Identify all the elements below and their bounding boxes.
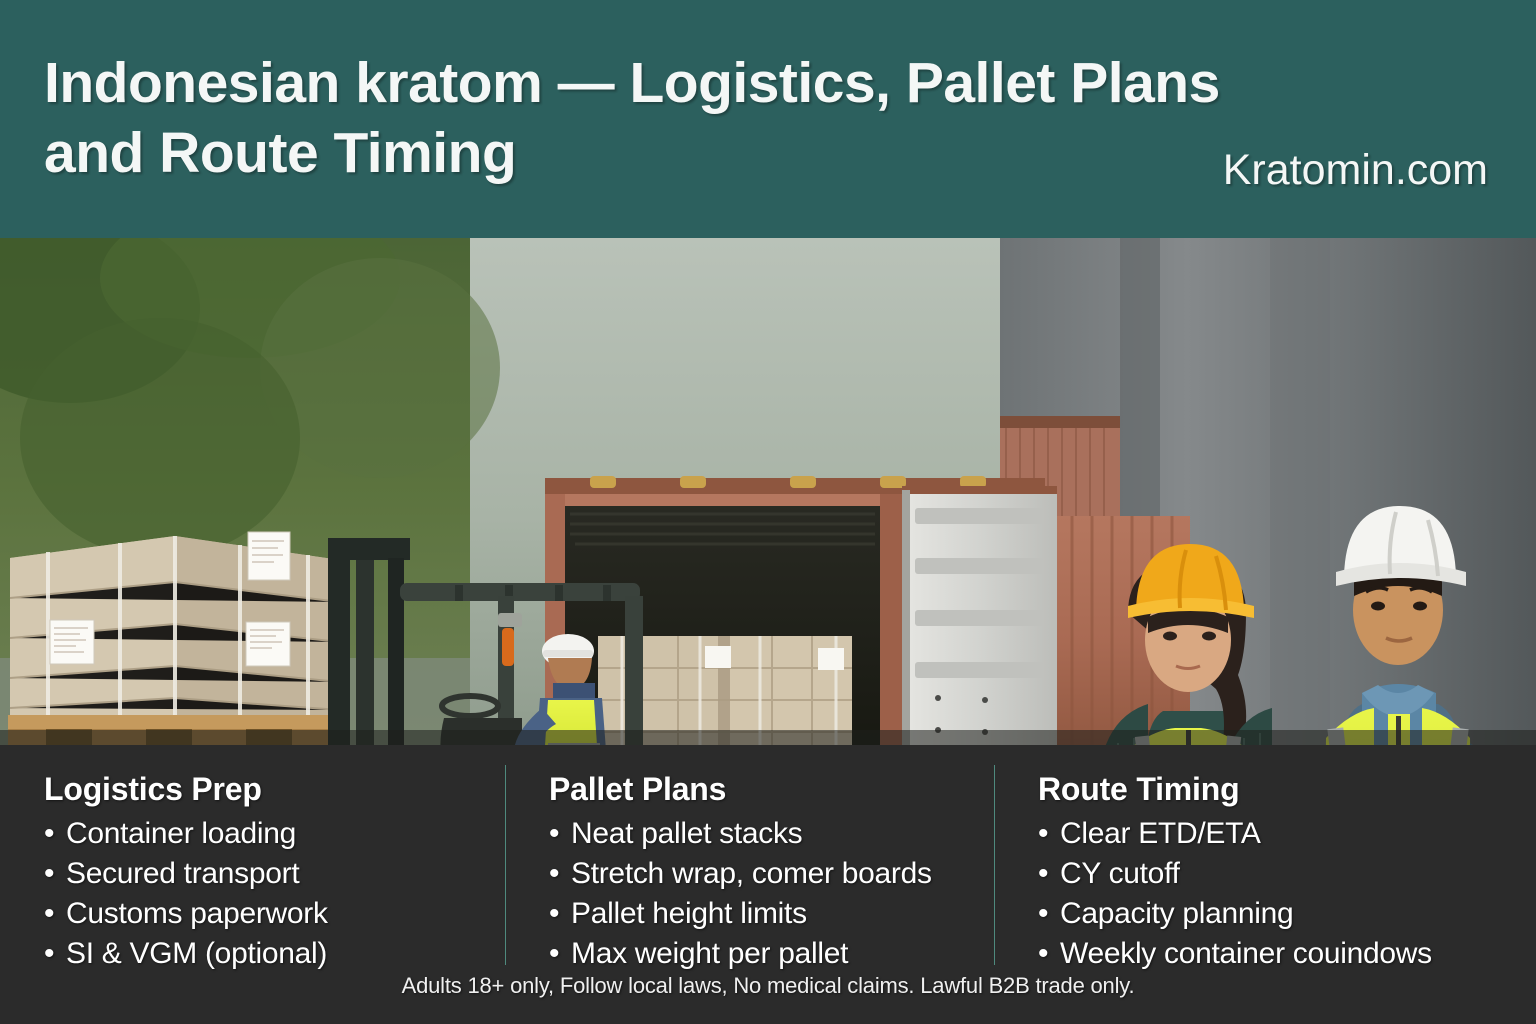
wrapped-pallet-stack [8,532,342,745]
bottom-panel: Logistics Prep •Container loading •Secur… [0,745,1536,1024]
list-item: •Pallet height limits [549,894,994,934]
disclaimer-text: Adults 18+ only, Follow local laws, No m… [0,973,1536,999]
page-title: Indonesian kratom — Logistics, Pallet Pl… [44,49,1224,188]
columns-container: Logistics Prep •Container loading •Secur… [0,745,1536,970]
bullet-dot-icon: • [549,934,559,974]
hero-photo-illustration [0,238,1536,745]
list-item: •Capacity planning [1038,894,1536,934]
list-item-label: Weekly container couindows [1060,937,1432,970]
header-inner: Indonesian kratom — Logistics, Pallet Pl… [44,49,1492,188]
brand-name: Kratomin.com [1223,146,1488,195]
column-divider-2 [994,765,995,965]
header-banner: Indonesian kratom — Logistics, Pallet Pl… [0,0,1536,238]
bullet-dot-icon: • [549,894,559,934]
bullet-dot-icon: • [549,854,559,894]
bullet-dot-icon: • [1038,854,1048,894]
bullet-dot-icon: • [1038,894,1048,934]
list-item: •CY cutoff [1038,854,1536,894]
list-item-label: Capacity planning [1060,897,1293,930]
column-route-timing: Route Timing •Clear ETD/ETA •CY cutoff •… [994,745,1536,970]
list-item-label: Max weight per pallet [571,937,848,970]
list-item: •SI & VGM (optional) [44,934,505,974]
bullet-dot-icon: • [1038,814,1048,854]
list-item-label: SI & VGM (optional) [66,937,327,970]
list-item-label: CY cutoff [1060,857,1180,890]
bullet-dot-icon: • [44,934,54,974]
list-item-label: Secured transport [66,857,299,890]
list-item: •Secured transport [44,854,505,894]
bullet-dot-icon: • [549,814,559,854]
infographic-root: Indonesian kratom — Logistics, Pallet Pl… [0,0,1536,1024]
list-item-label: Container loading [66,817,296,850]
column-pallet-plans: Pallet Plans •Neat pallet stacks •Stretc… [505,745,994,970]
bullet-list-3: •Clear ETD/ETA •CY cutoff •Capacity plan… [1038,814,1536,974]
bullet-dot-icon: • [44,814,54,854]
column-heading-1: Logistics Prep [44,771,505,808]
column-logistics-prep: Logistics Prep •Container loading •Secur… [0,745,505,970]
bullet-dot-icon: • [44,894,54,934]
bullet-list-1: •Container loading •Secured transport •C… [44,814,505,974]
list-item-label: Stretch wrap, comer boards [571,857,932,890]
list-item: •Weekly container couindows [1038,934,1536,974]
bullet-list-2: •Neat pallet stacks •Stretch wrap, comer… [549,814,994,974]
list-item-label: Clear ETD/ETA [1060,817,1261,850]
column-heading-2: Pallet Plans [549,771,994,808]
list-item: •Max weight per pallet [549,934,994,974]
list-item-label: Neat pallet stacks [571,817,802,850]
list-item: •Customs paperwork [44,894,505,934]
list-item: •Stretch wrap, comer boards [549,854,994,894]
list-item: •Neat pallet stacks [549,814,994,854]
list-item: •Clear ETD/ETA [1038,814,1536,854]
bullet-dot-icon: • [44,854,54,894]
list-item: •Container loading [44,814,505,854]
bullet-dot-icon: • [1038,934,1048,974]
column-divider-1 [505,765,506,965]
column-heading-3: Route Timing [1038,771,1536,808]
list-item-label: Customs paperwork [66,897,328,930]
hero-photo [0,238,1536,745]
list-item-label: Pallet height limits [571,897,807,930]
